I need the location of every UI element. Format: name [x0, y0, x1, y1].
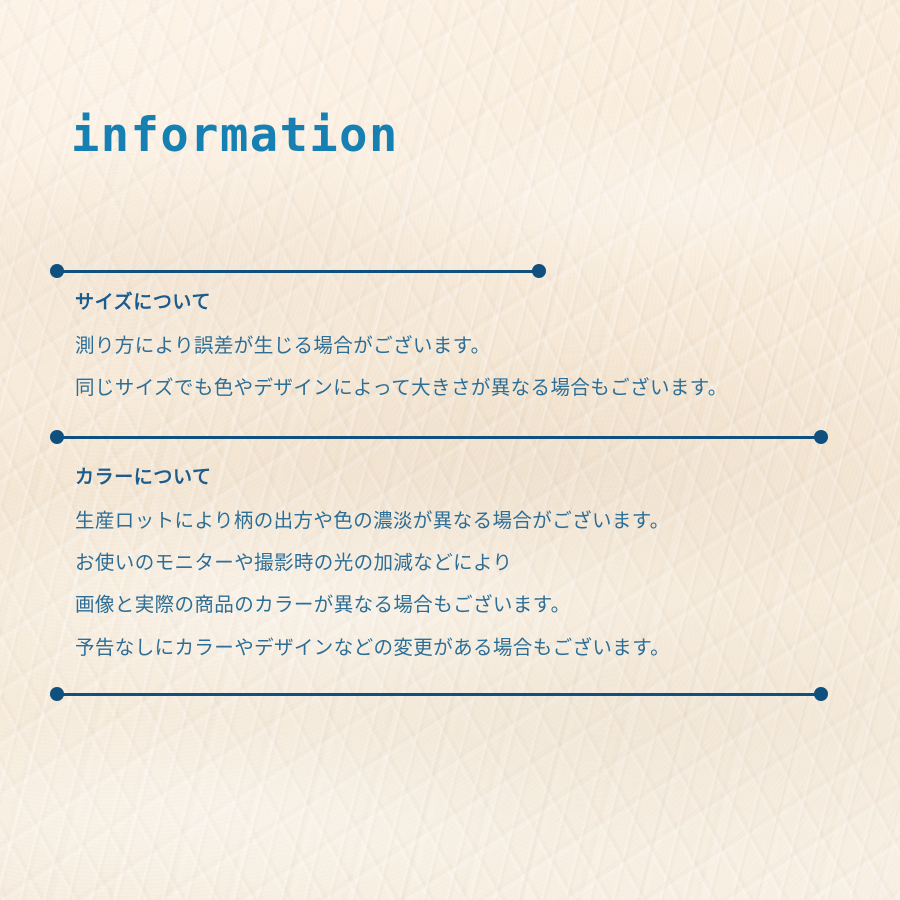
section-color-line-1: 生産ロットにより柄の出方や色の濃淡が異なる場合がございます。	[75, 508, 670, 534]
divider-above-size-section	[50, 264, 546, 278]
divider-cap-left-icon	[50, 430, 64, 444]
divider-rule	[63, 436, 815, 439]
divider-cap-right-icon	[814, 430, 828, 444]
section-size: サイズについて 測り方により誤差が生じる場合がございます。 同じサイズでも色やデ…	[75, 291, 728, 401]
section-color-line-2: お使いのモニターや撮影時の光の加減などにより	[75, 550, 670, 576]
information-page: information サイズについて 測り方により誤差が生じる場合がございます…	[0, 0, 900, 900]
section-color-line-3: 画像と実際の商品のカラーが異なる場合もございます。	[75, 592, 670, 618]
section-color: カラーについて 生産ロットにより柄の出方や色の濃淡が異なる場合がございます。 お…	[75, 466, 670, 661]
section-heading-color: カラーについて	[75, 466, 670, 491]
section-heading-size: サイズについて	[75, 291, 728, 316]
page-title: information	[71, 112, 399, 159]
divider-below-color-section	[50, 687, 828, 701]
divider-between-sections	[50, 430, 828, 444]
divider-rule	[63, 270, 533, 273]
section-size-line-2: 同じサイズでも色やデザインによって大きさが異なる場合もございます。	[75, 375, 728, 401]
divider-cap-left-icon	[50, 264, 64, 278]
section-color-line-4: 予告なしにカラーやデザインなどの変更がある場合もございます。	[75, 635, 670, 661]
divider-cap-right-icon	[532, 264, 546, 278]
divider-rule	[63, 693, 815, 696]
content-area: information サイズについて 測り方により誤差が生じる場合がございます…	[0, 0, 900, 900]
divider-cap-right-icon	[814, 687, 828, 701]
section-size-line-1: 測り方により誤差が生じる場合がございます。	[75, 333, 728, 359]
divider-cap-left-icon	[50, 687, 64, 701]
